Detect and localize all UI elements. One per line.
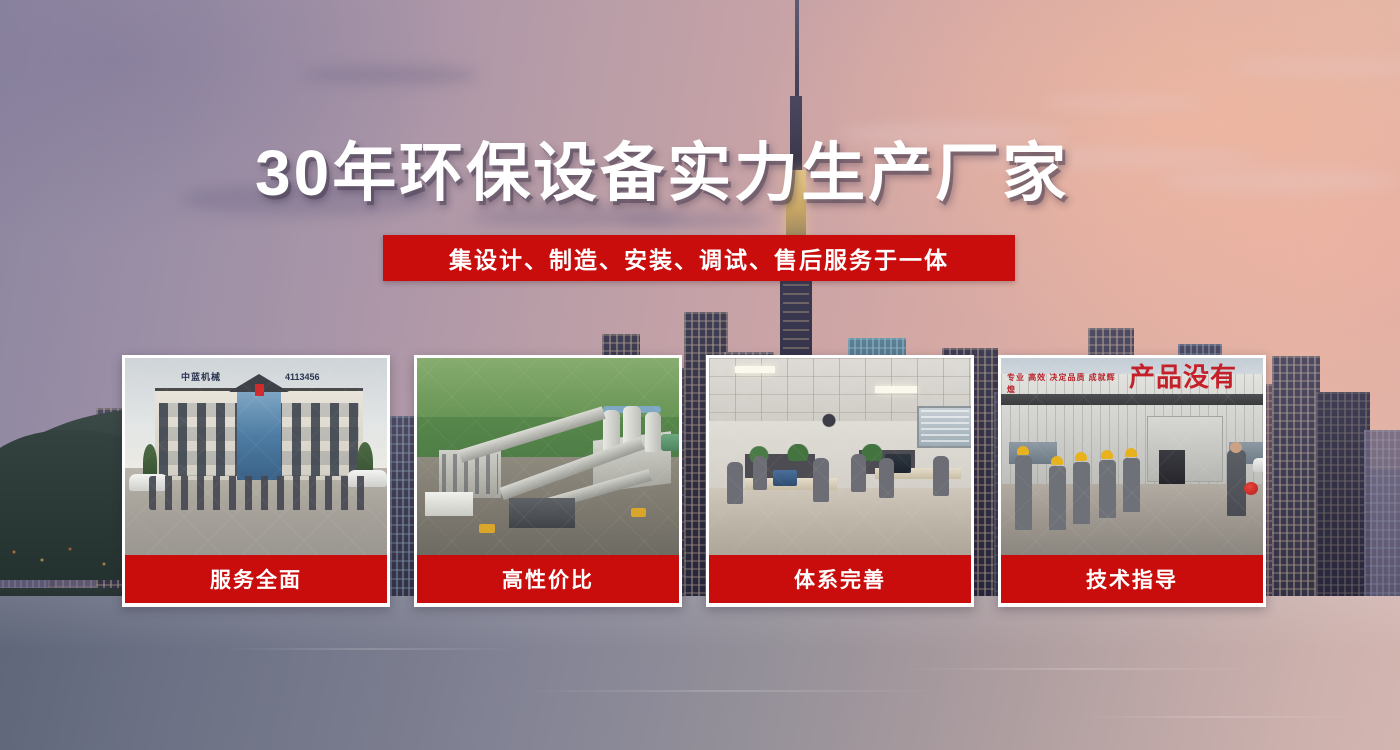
water-streak [220,648,520,650]
water-streak [1080,716,1360,718]
water-streak [520,690,940,692]
feature-card[interactable]: 中蓝机械 4113456 服务全面 [122,355,390,607]
building-sign-text: 中蓝机械 [181,372,265,383]
office-team-photo [709,358,971,555]
card-label: 体系完善 [709,555,971,603]
company-headquarters-photo: 中蓝机械 4113456 [125,358,387,555]
building-phone-text: 4113456 [285,372,363,383]
feature-card[interactable]: 体系完善 [706,355,974,607]
page-title: 30年环保设备实力生产厂家 [255,133,1155,213]
water-streak [900,668,1260,670]
card-label: 高性价比 [417,555,679,603]
feature-card-row: 中蓝机械 4113456 服务全面 [122,355,1278,607]
feature-card[interactable]: 产品没有 专业 高效 决定品质 成就辉煌 [998,355,1266,607]
factory-sign-text: 产品没有 [1129,362,1261,392]
card-label: 服务全面 [125,555,387,603]
water-reflection-overlay [0,596,1400,750]
feature-card[interactable]: 高性价比 [414,355,682,607]
promotional-banner: 30年环保设备实力生产厂家 集设计、制造、安装、调试、售后服务于一体 中蓝机械 … [0,0,1400,750]
subtitle-banner: 集设计、制造、安装、调试、售后服务于一体 [383,235,1015,281]
factory-workers-photo: 产品没有 专业 高效 决定品质 成就辉煌 [1001,358,1263,555]
aerial-plant-photo [417,358,679,555]
subtitle-text: 集设计、制造、安装、调试、售后服务于一体 [449,241,949,275]
card-label: 技术指导 [1001,555,1263,603]
